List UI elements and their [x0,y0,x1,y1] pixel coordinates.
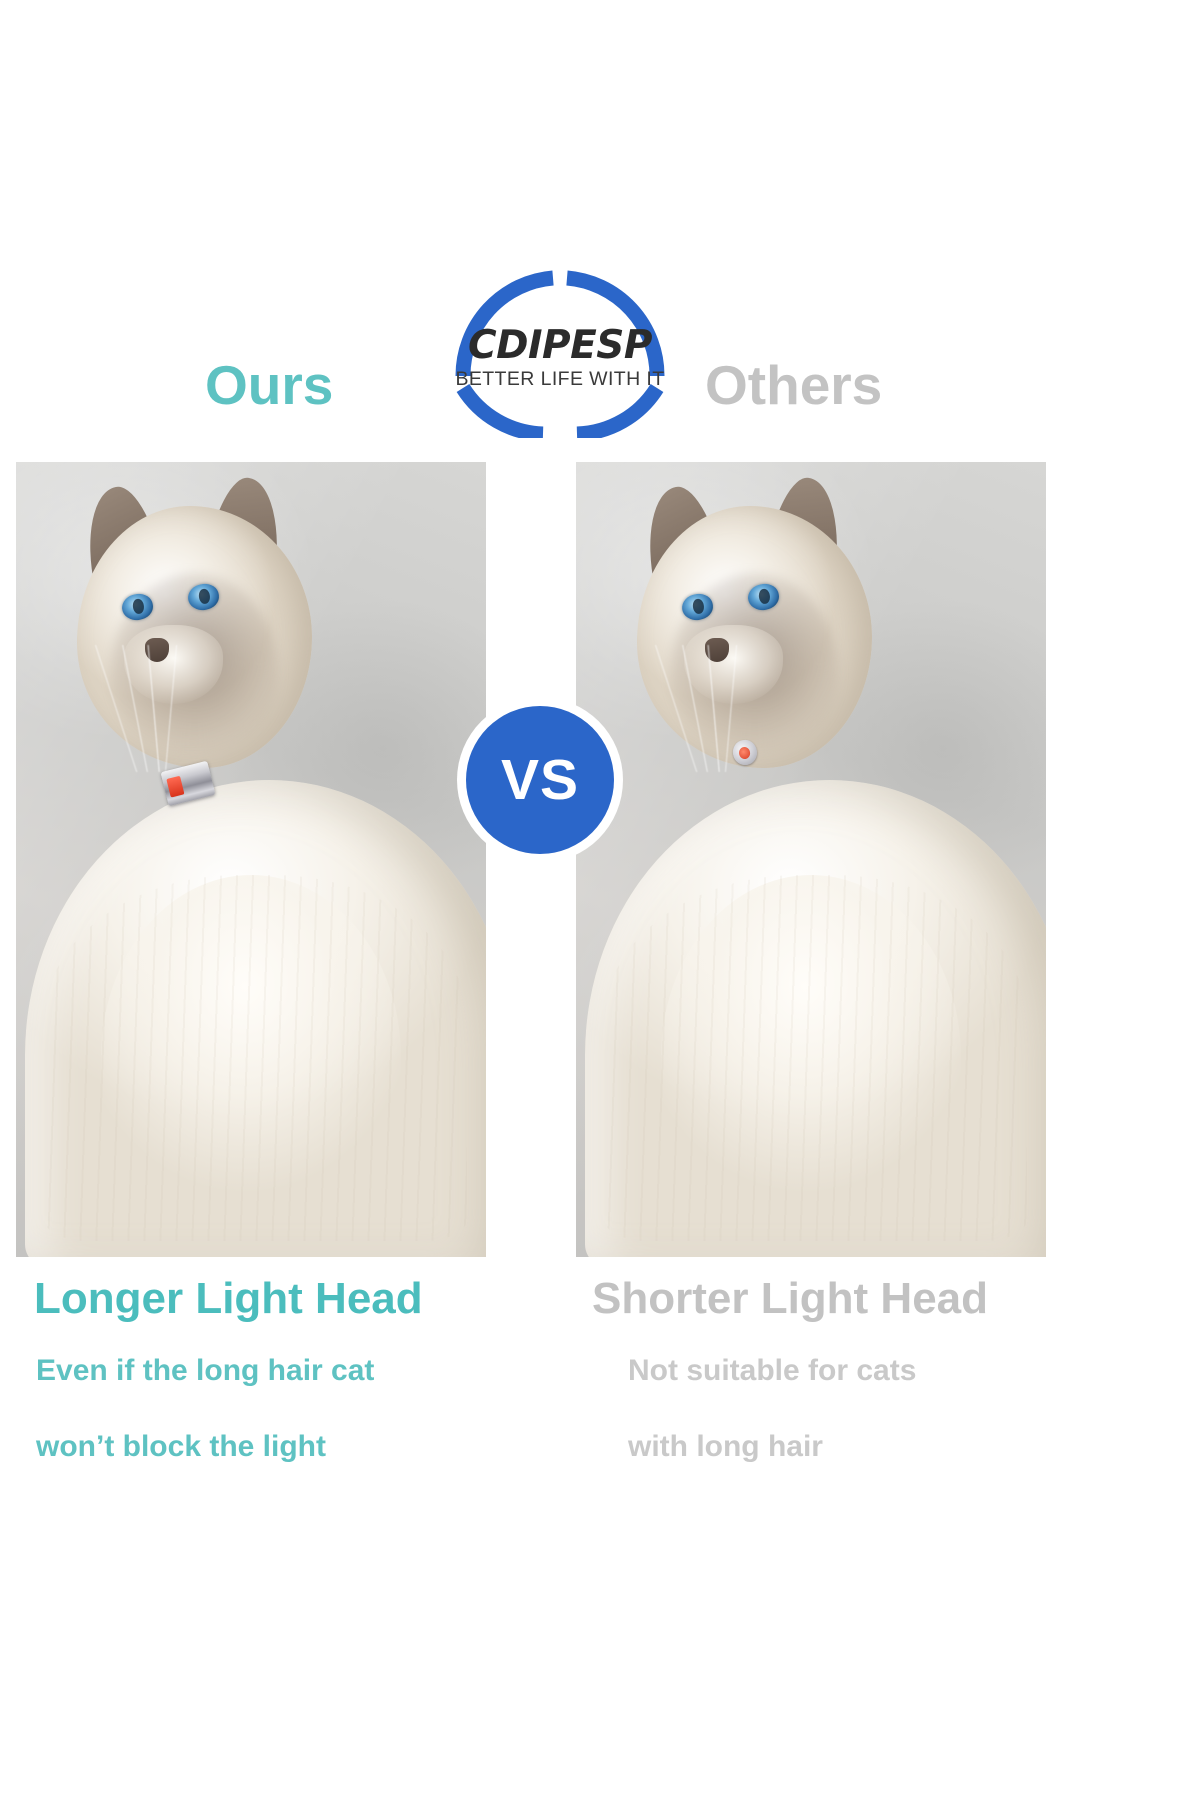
cat-pupil-left [692,599,704,615]
product-comparison-page: CDIPESP BETTER LIFE WITH IT Ours Others [0,0,1200,1800]
cat-pupil-right [198,589,210,605]
caption-title-ours: Longer Light Head [34,1277,423,1321]
caption-others-line-2: with long hair [628,1432,823,1462]
brand-tagline: BETTER LIFE WITH IT [432,370,688,390]
vs-label: VS [501,752,579,809]
column-heading-ours: Ours [205,358,333,413]
column-heading-others: Others [705,358,882,413]
vs-badge: VS [466,706,614,854]
cat-fur-texture [604,875,1027,1241]
brand-wordmark: CDIPESP [435,326,685,365]
cat-pupil-right [758,589,770,605]
caption-ours-line-2: won’t block the light [36,1432,326,1462]
cat-illustration-ours [16,462,486,1257]
caption-others-line-1: Not suitable for cats [628,1356,916,1386]
photo-ours [16,462,486,1257]
cat-fur-texture [44,875,467,1241]
caption-title-others: Shorter Light Head [592,1277,988,1321]
cat-illustration-others [576,462,1046,1257]
caption-ours-line-1: Even if the long hair cat [36,1356,374,1386]
brand-logo: CDIPESP BETTER LIFE WITH IT [435,248,685,438]
photo-others [576,462,1046,1257]
cat-pupil-left [132,599,144,615]
